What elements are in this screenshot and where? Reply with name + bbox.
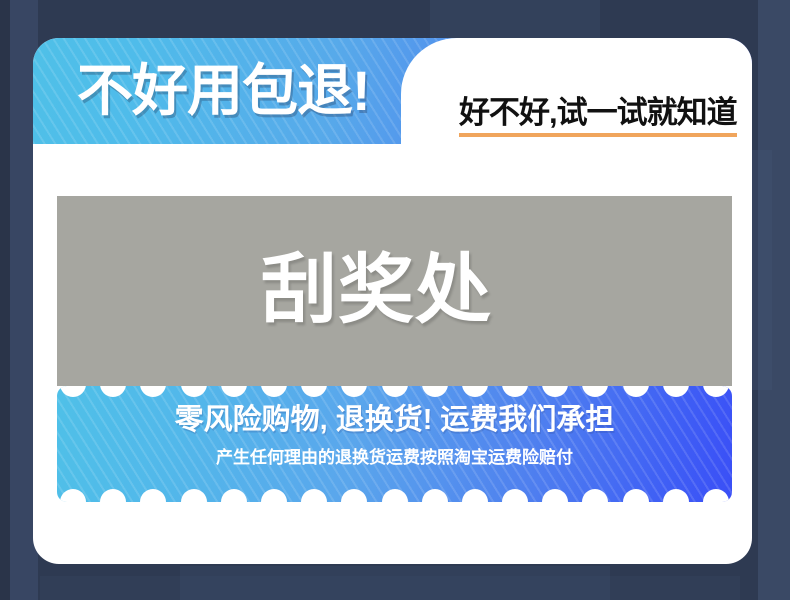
subheadline-group: 好不好,试一试就知道 — [459, 94, 737, 137]
guarantee-banner-subtitle: 产生任何理由的退换货运费按照淘宝运费险赔付 — [57, 446, 732, 470]
guarantee-banner-title: 零风险购物, 退换货! 运费我们承担 — [57, 402, 732, 438]
subheadline-text: 好不好,试一试就知道 — [459, 94, 737, 132]
promo-card: 不好用包退! 好不好,试一试就知道 刮奖处 零风险购物, 退换货! 运费我们承担… — [33, 38, 752, 564]
backdrop-stripe — [0, 0, 10, 600]
scratch-off-area[interactable]: 刮奖处 — [57, 196, 732, 386]
page-title: 不好用包退! — [77, 56, 370, 126]
scratch-off-label: 刮奖处 — [261, 249, 492, 333]
backdrop-panel — [430, 0, 600, 40]
backdrop-panel — [752, 150, 772, 390]
backdrop-panel — [40, 576, 740, 600]
subheadline-underline — [459, 133, 737, 137]
guarantee-banner: 零风险购物, 退换货! 运费我们承担 产生任何理由的退换货运费按照淘宝运费险赔付 — [57, 386, 732, 502]
